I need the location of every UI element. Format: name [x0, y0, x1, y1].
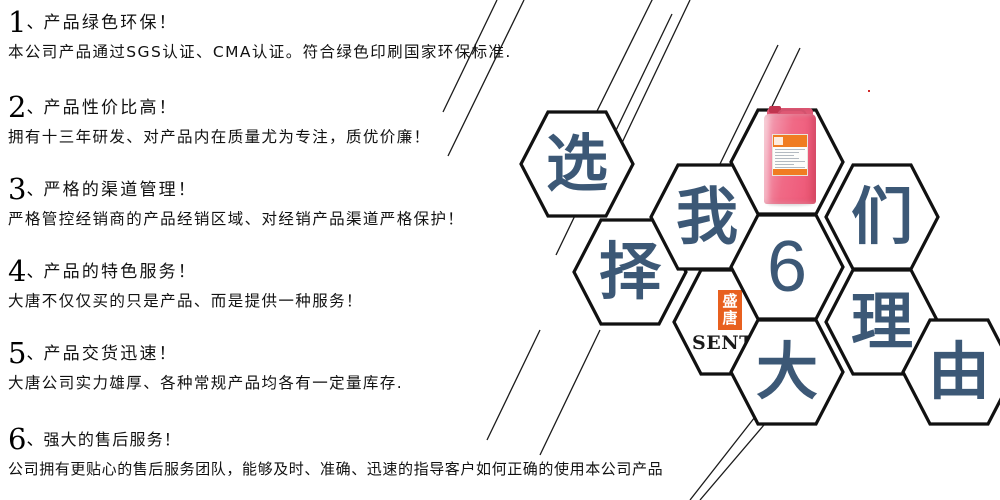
reason-number-1: 1 [8, 5, 26, 39]
product-label-footer [773, 169, 807, 175]
product-image[interactable] [761, 106, 819, 206]
hexagon-xuan-label: 选 [519, 110, 635, 218]
reason-separator-3: 、 [26, 180, 43, 200]
reason-title-6: 强大的售后服务！ [43, 430, 181, 449]
reason-separator-6: 、 [26, 430, 43, 450]
reason-subtitle-6: 公司拥有更贴心的售后服务团队，能够及时、准确、迅速的指导客户如何正确的使用本公司… [8, 462, 998, 477]
reason-number-6: 6 [8, 422, 26, 456]
reason-subtitle-5: 大唐公司实力雄厚、各种常规产品均各有一定量库存. [8, 376, 668, 392]
hexagon-xuan[interactable]: 选 [519, 110, 635, 218]
poster-canvas: 1、产品绿色环保！ 本公司产品通过SGS认证、CMA认证。符合绿色印刷国家环保标… [0, 0, 1000, 500]
reason-number-2: 2 [8, 90, 26, 124]
reason-number-3: 3 [8, 172, 26, 206]
reason-heading-5: 5、产品交货迅速！ [8, 339, 668, 369]
hexagon-men-label: 们 [824, 163, 940, 271]
reason-title-3: 严格的渠道管理！ [43, 180, 197, 200]
reason-title-4: 产品的特色服务！ [43, 262, 197, 282]
hexagon-you-label: 由 [901, 318, 1000, 426]
reason-item-4: 4、产品的特色服务！ 大唐不仅仅买的只是产品、而是提供一种服务！ [8, 257, 668, 310]
product-label-text-lines [773, 147, 807, 171]
product-label [772, 134, 808, 176]
reason-heading-1: 1、产品绿色环保！ [8, 8, 668, 38]
reason-subtitle-4: 大唐不仅仅买的只是产品、而是提供一种服务！ [8, 294, 668, 310]
reason-separator-2: 、 [26, 98, 43, 118]
reason-heading-6: 6、强大的售后服务！ [8, 425, 998, 455]
reason-number-5: 5 [8, 336, 26, 370]
reason-item-1: 1、产品绿色环保！ 本公司产品通过SGS认证、CMA认证。符合绿色印刷国家环保标… [8, 8, 668, 61]
reason-item-5: 5、产品交货迅速！ 大唐公司实力雄厚、各种常规产品均各有一定量库存. [8, 339, 668, 392]
product-label-header [773, 135, 807, 147]
reason-separator-4: 、 [26, 262, 43, 282]
reason-title-1: 产品绿色环保！ [43, 13, 177, 33]
reason-separator-5: 、 [26, 344, 43, 364]
hexagon-men[interactable]: 们 [824, 163, 940, 271]
reason-item-6: 6、强大的售后服务！ 公司拥有更贴心的售后服务团队，能够及时、准确、迅速的指导客… [8, 425, 998, 477]
reason-list: 1、产品绿色环保！ 本公司产品通过SGS认证、CMA认证。符合绿色印刷国家环保标… [8, 0, 668, 500]
reason-title-5: 产品交货迅速！ [43, 344, 177, 364]
reason-title-2: 产品性价比高！ [43, 98, 177, 118]
product-label-swatch [774, 137, 783, 145]
reason-number-4: 4 [8, 254, 26, 288]
reason-heading-4: 4、产品的特色服务！ [8, 257, 668, 287]
reason-subtitle-1: 本公司产品通过SGS认证、CMA认证。符合绿色印刷国家环保标准. [8, 45, 668, 61]
reason-separator-1: 、 [26, 13, 43, 33]
red-dot-marker [868, 90, 870, 92]
hexagon-you[interactable]: 由 [901, 318, 1000, 426]
